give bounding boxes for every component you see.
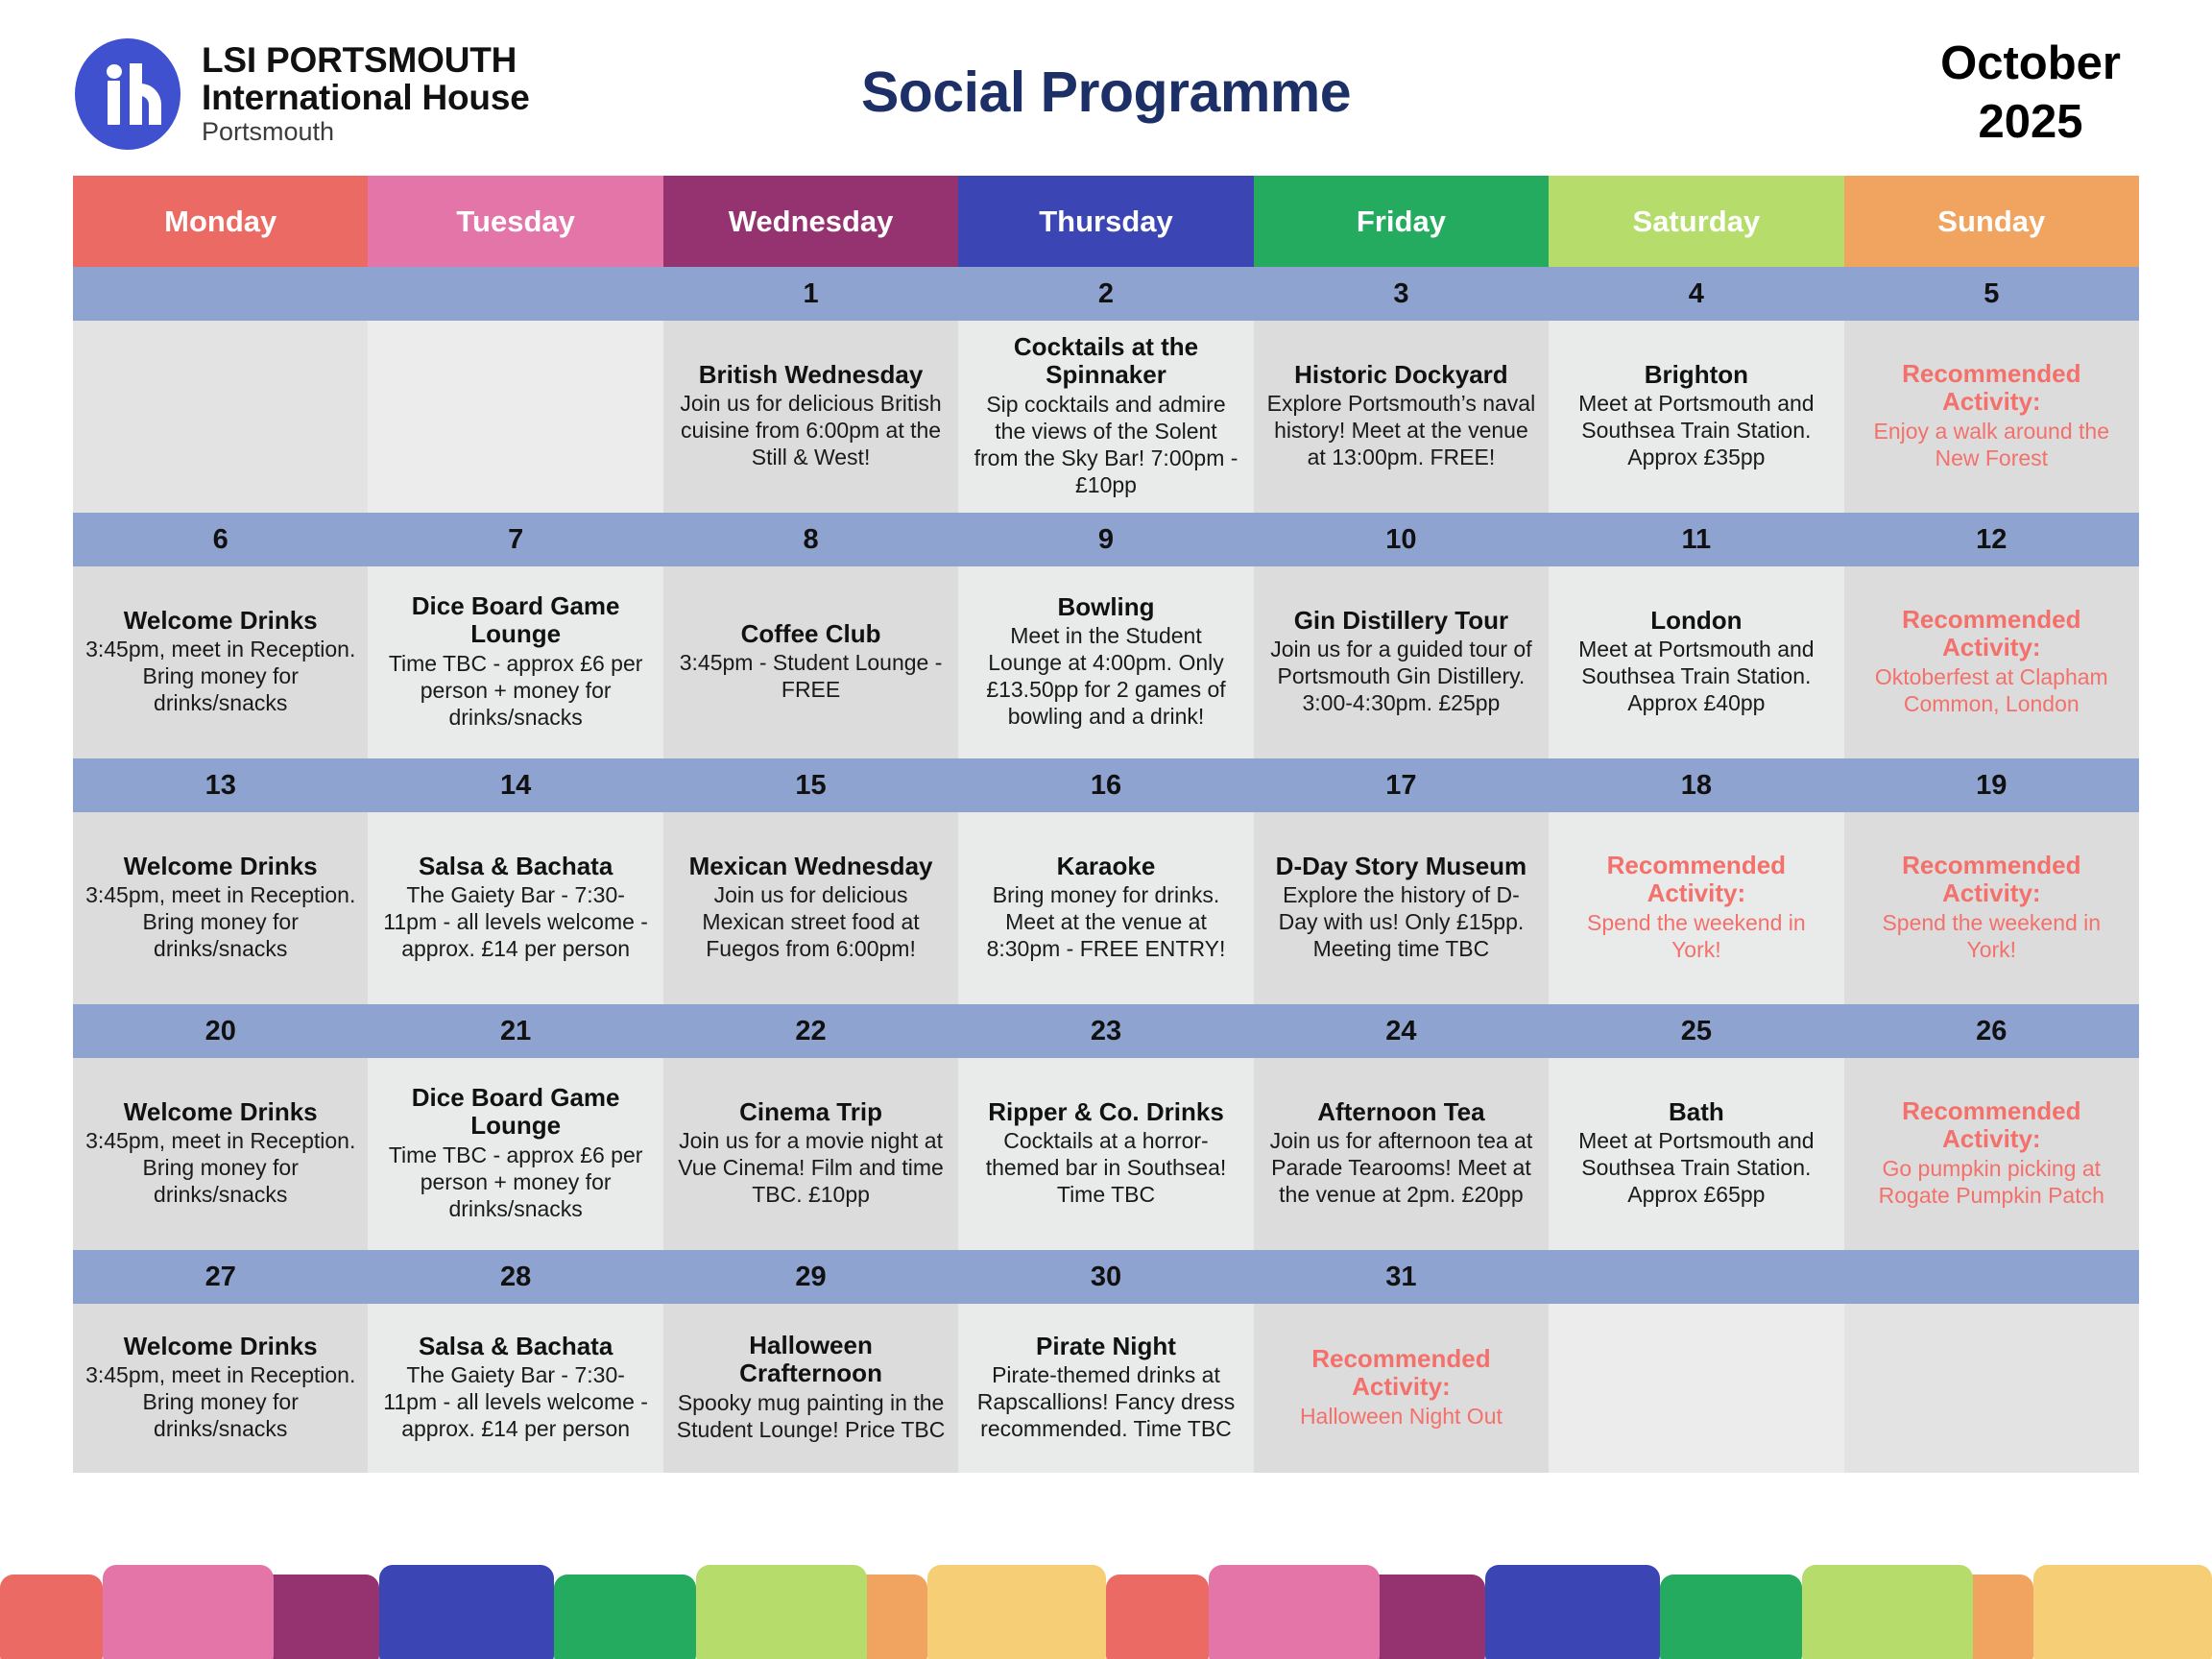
month-name: October bbox=[1940, 35, 2121, 93]
day-number-empty bbox=[73, 267, 368, 321]
event-cell-day-5: Recommended Activity:Enjoy a walk around… bbox=[1844, 321, 2139, 513]
event-description: Spooky mug painting in the Student Loung… bbox=[676, 1389, 946, 1443]
calendar-grid: MondayTuesdayWednesdayThursdayFridaySatu… bbox=[73, 176, 2139, 1473]
event-cell-day-12: Recommended Activity:Oktoberfest at Clap… bbox=[1844, 566, 2139, 758]
event-description: Oktoberfest at Clapham Common, London bbox=[1857, 663, 2127, 717]
event-title: Cocktails at the Spinnaker bbox=[971, 333, 1240, 388]
footer-block-0 bbox=[0, 1575, 103, 1659]
event-description: Join us for delicious British cuisine fr… bbox=[676, 390, 946, 470]
event-description: Bring money for drinks. Meet at the venu… bbox=[971, 881, 1240, 962]
event-title: Recommended Activity: bbox=[1561, 852, 1831, 906]
event-title: Salsa & Bachata bbox=[419, 1333, 613, 1360]
day-number-25: 25 bbox=[1549, 1004, 1843, 1058]
social-programme-poster: LSI PORTSMOUTH International House Ports… bbox=[0, 0, 2212, 1659]
day-number-6: 6 bbox=[73, 513, 368, 566]
event-description: 3:45pm, meet in Reception. Bring money f… bbox=[85, 881, 355, 962]
footer-block-8 bbox=[1106, 1575, 1209, 1659]
event-cell-day-19: Recommended Activity:Spend the weekend i… bbox=[1844, 812, 2139, 1004]
event-description: The Gaiety Bar - 7:30-11pm - all levels … bbox=[380, 1361, 650, 1442]
event-cell-day-29: Halloween CrafternoonSpooky mug painting… bbox=[663, 1304, 958, 1473]
event-title: Recommended Activity: bbox=[1857, 606, 2127, 661]
day-number-7: 7 bbox=[368, 513, 662, 566]
event-cell-day-2: Cocktails at the SpinnakerSip cocktails … bbox=[958, 321, 1253, 513]
footer-block-7 bbox=[927, 1565, 1106, 1659]
event-cell-empty bbox=[1844, 1304, 2139, 1473]
event-title: D-Day Story Museum bbox=[1276, 853, 1527, 880]
day-number-27: 27 bbox=[73, 1250, 368, 1304]
event-title: Halloween Crafternoon bbox=[676, 1332, 946, 1386]
day-number-8: 8 bbox=[663, 513, 958, 566]
event-title: Cinema Trip bbox=[739, 1098, 882, 1126]
event-cell-day-31: Recommended Activity:Halloween Night Out bbox=[1254, 1304, 1549, 1473]
event-cell-day-1: British WednesdayJoin us for delicious B… bbox=[663, 321, 958, 513]
day-number-28: 28 bbox=[368, 1250, 662, 1304]
event-cell-day-7: Dice Board Game LoungeTime TBC - approx … bbox=[368, 566, 662, 758]
page-title: Social Programme bbox=[0, 60, 2212, 125]
event-cell-day-17: D-Day Story MuseumExplore the history of… bbox=[1254, 812, 1549, 1004]
day-number-14: 14 bbox=[368, 758, 662, 812]
day-number-empty bbox=[1549, 1250, 1843, 1304]
event-title: Dice Board Game Lounge bbox=[380, 592, 650, 647]
day-number-11: 11 bbox=[1549, 513, 1843, 566]
day-number-21: 21 bbox=[368, 1004, 662, 1058]
day-number-5: 5 bbox=[1844, 267, 2139, 321]
footer-block-5 bbox=[696, 1565, 867, 1659]
event-description: Meet at Portsmouth and Southsea Train St… bbox=[1561, 390, 1831, 470]
event-title: Gin Distillery Tour bbox=[1294, 607, 1508, 635]
event-description: Pirate-themed drinks at Rapscallions! Fa… bbox=[971, 1361, 1240, 1442]
event-title: Bowling bbox=[1057, 593, 1154, 621]
event-cell-day-21: Dice Board Game LoungeTime TBC - approx … bbox=[368, 1058, 662, 1250]
month-year: 2025 bbox=[1940, 93, 2121, 152]
month-year-label: October 2025 bbox=[1940, 35, 2121, 153]
event-description: 3:45pm - Student Lounge - FREE bbox=[676, 649, 946, 703]
event-cell-day-26: Recommended Activity:Go pumpkin picking … bbox=[1844, 1058, 2139, 1250]
event-title: Brighton bbox=[1645, 361, 1748, 389]
event-cell-empty bbox=[73, 321, 368, 513]
event-description: Sip cocktails and admire the views of th… bbox=[971, 391, 1240, 498]
weekday-header-friday: Friday bbox=[1254, 176, 1549, 267]
day-number-empty bbox=[368, 267, 662, 321]
event-cell-day-18: Recommended Activity:Spend the weekend i… bbox=[1549, 812, 1843, 1004]
day-number-24: 24 bbox=[1254, 1004, 1549, 1058]
event-description: Join us for afternoon tea at Parade Tear… bbox=[1266, 1127, 1536, 1208]
event-cell-empty bbox=[368, 321, 662, 513]
weekday-header-monday: Monday bbox=[73, 176, 368, 267]
day-number-18: 18 bbox=[1549, 758, 1843, 812]
event-title: Coffee Club bbox=[741, 620, 881, 648]
event-cell-day-22: Cinema TripJoin us for a movie night at … bbox=[663, 1058, 958, 1250]
day-number-3: 3 bbox=[1254, 267, 1549, 321]
event-cell-day-27: Welcome Drinks3:45pm, meet in Reception.… bbox=[73, 1304, 368, 1473]
event-cell-day-24: Afternoon TeaJoin us for afternoon tea a… bbox=[1254, 1058, 1549, 1250]
event-title: Afternoon Tea bbox=[1317, 1098, 1484, 1126]
day-number-17: 17 bbox=[1254, 758, 1549, 812]
event-description: Spend the weekend in York! bbox=[1857, 909, 2127, 963]
event-title: Recommended Activity: bbox=[1857, 1097, 2127, 1152]
event-cell-day-9: BowlingMeet in the Student Lounge at 4:0… bbox=[958, 566, 1253, 758]
event-cell-day-20: Welcome Drinks3:45pm, meet in Reception.… bbox=[73, 1058, 368, 1250]
event-cell-day-6: Welcome Drinks3:45pm, meet in Reception.… bbox=[73, 566, 368, 758]
event-title: Salsa & Bachata bbox=[419, 853, 613, 880]
event-title: Welcome Drinks bbox=[124, 607, 318, 635]
event-cell-day-14: Salsa & BachataThe Gaiety Bar - 7:30-11p… bbox=[368, 812, 662, 1004]
weekday-header-wednesday: Wednesday bbox=[663, 176, 958, 267]
footer-block-4 bbox=[554, 1575, 696, 1659]
event-description: Join us for delicious Mexican street foo… bbox=[676, 881, 946, 962]
event-description: Meet at Portsmouth and Southsea Train St… bbox=[1561, 636, 1831, 716]
event-title: Welcome Drinks bbox=[124, 1333, 318, 1360]
event-description: Join us for a guided tour of Portsmouth … bbox=[1266, 636, 1536, 716]
day-number-23: 23 bbox=[958, 1004, 1253, 1058]
day-number-1: 1 bbox=[663, 267, 958, 321]
event-title: Recommended Activity: bbox=[1266, 1345, 1536, 1400]
event-title: London bbox=[1650, 607, 1742, 635]
footer-block-13 bbox=[1802, 1565, 1973, 1659]
footer-block-15 bbox=[2033, 1565, 2212, 1659]
day-number-19: 19 bbox=[1844, 758, 2139, 812]
event-description: Explore the history of D-Day with us! On… bbox=[1266, 881, 1536, 962]
event-cell-day-10: Gin Distillery TourJoin us for a guided … bbox=[1254, 566, 1549, 758]
footer-block-1 bbox=[103, 1565, 274, 1659]
event-description: Spend the weekend in York! bbox=[1561, 909, 1831, 963]
event-cell-day-23: Ripper & Co. DrinksCocktails at a horror… bbox=[958, 1058, 1253, 1250]
event-title: Bath bbox=[1669, 1098, 1724, 1126]
footer-color-blocks bbox=[0, 1565, 2212, 1659]
event-description: Explore Portsmouth’s naval history! Meet… bbox=[1266, 390, 1536, 470]
day-number-15: 15 bbox=[663, 758, 958, 812]
event-cell-day-13: Welcome Drinks3:45pm, meet in Reception.… bbox=[73, 812, 368, 1004]
event-title: Historic Dockyard bbox=[1294, 361, 1508, 389]
event-cell-day-25: BathMeet at Portsmouth and Southsea Trai… bbox=[1549, 1058, 1843, 1250]
event-description: Halloween Night Out bbox=[1300, 1403, 1503, 1430]
day-number-4: 4 bbox=[1549, 267, 1843, 321]
event-title: Karaoke bbox=[1057, 853, 1156, 880]
event-title: Recommended Activity: bbox=[1857, 852, 2127, 906]
footer-block-3 bbox=[379, 1565, 554, 1659]
day-number-9: 9 bbox=[958, 513, 1253, 566]
day-number-20: 20 bbox=[73, 1004, 368, 1058]
day-number-2: 2 bbox=[958, 267, 1253, 321]
event-description: 3:45pm, meet in Reception. Bring money f… bbox=[85, 1361, 355, 1442]
day-number-29: 29 bbox=[663, 1250, 958, 1304]
event-cell-day-4: BrightonMeet at Portsmouth and Southsea … bbox=[1549, 321, 1843, 513]
weekday-header-sunday: Sunday bbox=[1844, 176, 2139, 267]
event-title: Recommended Activity: bbox=[1857, 360, 2127, 415]
day-number-16: 16 bbox=[958, 758, 1253, 812]
event-title: Dice Board Game Lounge bbox=[380, 1084, 650, 1139]
day-number-22: 22 bbox=[663, 1004, 958, 1058]
page-header: LSI PORTSMOUTH International House Ports… bbox=[0, 0, 2212, 176]
day-number-13: 13 bbox=[73, 758, 368, 812]
footer-block-12 bbox=[1660, 1575, 1802, 1659]
event-description: Join us for a movie night at Vue Cinema!… bbox=[676, 1127, 946, 1208]
event-cell-empty bbox=[1549, 1304, 1843, 1473]
event-cell-day-28: Salsa & BachataThe Gaiety Bar - 7:30-11p… bbox=[368, 1304, 662, 1473]
event-description: 3:45pm, meet in Reception. Bring money f… bbox=[85, 636, 355, 716]
event-cell-day-16: KaraokeBring money for drinks. Meet at t… bbox=[958, 812, 1253, 1004]
weekday-header-saturday: Saturday bbox=[1549, 176, 1843, 267]
event-cell-day-8: Coffee Club3:45pm - Student Lounge - FRE… bbox=[663, 566, 958, 758]
event-description: Go pumpkin picking at Rogate Pumpkin Pat… bbox=[1857, 1155, 2127, 1209]
event-title: Pirate Night bbox=[1036, 1333, 1176, 1360]
event-title: Ripper & Co. Drinks bbox=[988, 1098, 1224, 1126]
event-cell-day-15: Mexican WednesdayJoin us for delicious M… bbox=[663, 812, 958, 1004]
event-cell-day-11: LondonMeet at Portsmouth and Southsea Tr… bbox=[1549, 566, 1843, 758]
event-cell-day-3: Historic DockyardExplore Portsmouth’s na… bbox=[1254, 321, 1549, 513]
event-description: Cocktails at a horror-themed bar in Sout… bbox=[971, 1127, 1240, 1208]
event-description: Time TBC - approx £6 per person + money … bbox=[380, 650, 650, 731]
day-number-26: 26 bbox=[1844, 1004, 2139, 1058]
day-number-30: 30 bbox=[958, 1250, 1253, 1304]
day-number-31: 31 bbox=[1254, 1250, 1549, 1304]
event-description: The Gaiety Bar - 7:30-11pm - all levels … bbox=[380, 881, 650, 962]
event-description: Time TBC - approx £6 per person + money … bbox=[380, 1142, 650, 1222]
weekday-header-thursday: Thursday bbox=[958, 176, 1253, 267]
footer-block-11 bbox=[1485, 1565, 1660, 1659]
event-cell-day-30: Pirate NightPirate-themed drinks at Raps… bbox=[958, 1304, 1253, 1473]
event-title: British Wednesday bbox=[699, 361, 924, 389]
day-number-empty bbox=[1844, 1250, 2139, 1304]
event-title: Mexican Wednesday bbox=[689, 853, 933, 880]
event-description: 3:45pm, meet in Reception. Bring money f… bbox=[85, 1127, 355, 1208]
footer-block-9 bbox=[1209, 1565, 1380, 1659]
event-description: Meet at Portsmouth and Southsea Train St… bbox=[1561, 1127, 1831, 1208]
event-title: Welcome Drinks bbox=[124, 853, 318, 880]
day-number-12: 12 bbox=[1844, 513, 2139, 566]
event-description: Enjoy a walk around the New Forest bbox=[1857, 418, 2127, 471]
event-description: Meet in the Student Lounge at 4:00pm. On… bbox=[971, 622, 1240, 730]
day-number-10: 10 bbox=[1254, 513, 1549, 566]
event-title: Welcome Drinks bbox=[124, 1098, 318, 1126]
weekday-header-tuesday: Tuesday bbox=[368, 176, 662, 267]
